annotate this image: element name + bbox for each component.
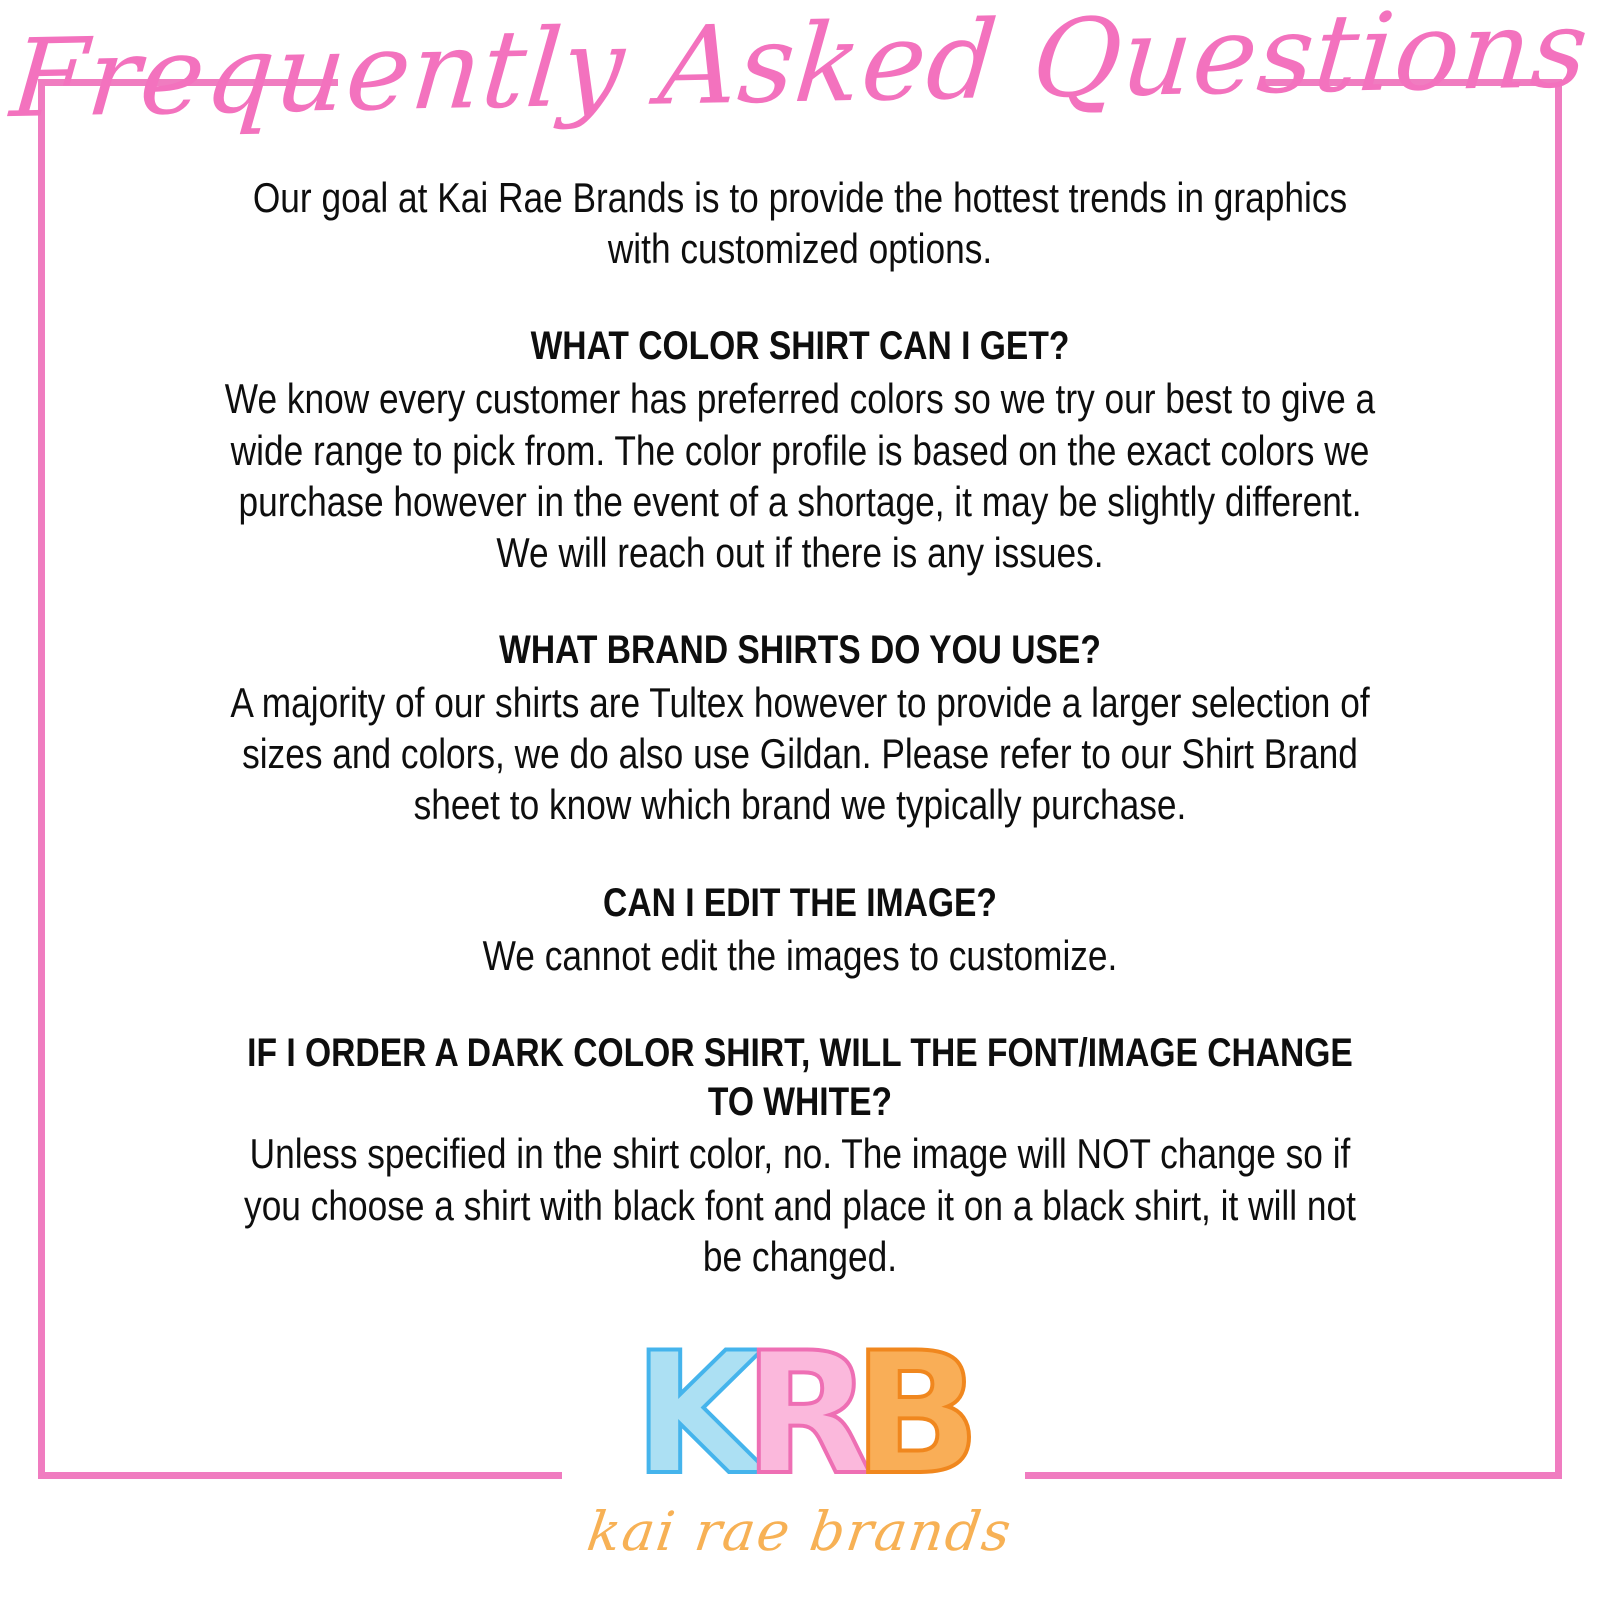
faq-question: WHAT COLOR SHIRT CAN I GET? [220,322,1379,371]
faq-item-2: WHAT BRAND SHIRTS DO YOU USE? A majority… [110,626,1490,831]
faq-item-1: WHAT COLOR SHIRT CAN I GET? We know ever… [110,322,1490,578]
logo-lettermark: KRB [0,1330,1600,1498]
faq-question: WHAT BRAND SHIRTS DO YOU USE? [220,626,1379,675]
faq-answer: We cannot edit the images to customize. [220,930,1379,981]
faq-item-4: IF I ORDER A DARK COLOR SHIRT, WILL THE … [110,1029,1490,1282]
logo-letter-b: B [853,1330,967,1498]
brand-logo: KRB kai rae brands [0,1330,1600,1563]
faq-content: Our goal at Kai Rae Brands is to provide… [110,172,1490,1282]
logo-letter-k: K [633,1330,749,1498]
page-title: Frequently Asked Questions [0,0,1600,137]
faq-answer: We know every customer has preferred col… [220,373,1379,578]
faq-answer: A majority of our shirts are Tultex howe… [220,677,1379,831]
faq-item-3: CAN I EDIT THE IMAGE? We cannot edit the… [110,879,1490,981]
frame-right-rule [1555,79,1562,1479]
faq-question: CAN I EDIT THE IMAGE? [220,879,1379,928]
intro-paragraph: Our goal at Kai Rae Brands is to provide… [220,172,1379,274]
frame-left-rule [38,79,45,1479]
faq-question: IF I ORDER A DARK COLOR SHIRT, WILL THE … [220,1029,1379,1127]
faq-answer: Unless specified in the shirt color, no.… [220,1128,1379,1282]
faq-page: Frequently Asked Questions Our goal at K… [0,0,1600,1600]
logo-letter-r: R [743,1330,858,1498]
logo-tagline: kai rae brands [0,1500,1600,1563]
